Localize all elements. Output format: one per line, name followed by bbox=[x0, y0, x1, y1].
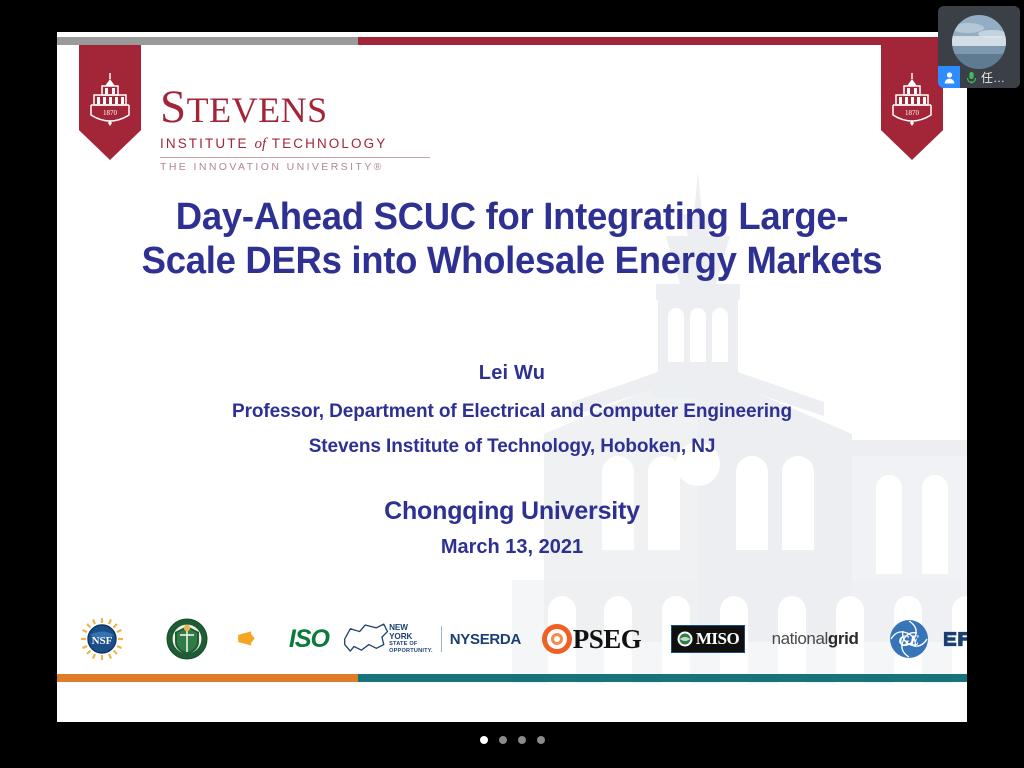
wordmark-divider bbox=[160, 157, 430, 158]
sponsor-logo-epri: ELECTRIC POWER RESEARCH INSTITUTE bbox=[943, 616, 967, 662]
stevens-wordmark: STEVENS INSTITUTE of TECHNOLOGY THE INNO… bbox=[160, 84, 430, 173]
pagination-dot-2[interactable] bbox=[499, 736, 507, 744]
sponsor-ng-text: national bbox=[772, 629, 828, 648]
shield-year-left: 1870 bbox=[103, 109, 118, 117]
participant-name-bar: 任… bbox=[938, 66, 1020, 88]
sponsor-nys-sub-a: STATE OF bbox=[389, 641, 433, 648]
slide-bottom-accent-bar bbox=[57, 674, 967, 682]
bottom-accent-orange-segment bbox=[57, 674, 358, 682]
presentation-slide[interactable]: 1870 bbox=[57, 32, 967, 722]
sponsor-logo-ge: GE bbox=[885, 616, 933, 662]
sponsor-nsf-text: NSF bbox=[92, 635, 113, 647]
person-icon[interactable] bbox=[938, 66, 960, 88]
event-date: March 13, 2021 bbox=[117, 536, 907, 559]
author-role: Professor, Department of Electrical and … bbox=[117, 401, 907, 423]
sponsor-logo-nyserda: NEW YORK STATE OF OPPORTUNITY. NYSERDA bbox=[341, 616, 521, 662]
zoom-shared-screen-view: 1870 bbox=[0, 0, 1024, 768]
sponsor-logo-miso: MISO bbox=[667, 616, 749, 662]
mute-status-button[interactable] bbox=[957, 719, 967, 722]
author-name: Lei Wu bbox=[117, 362, 907, 385]
stevens-shield-logo-left: 1870 bbox=[79, 45, 141, 160]
wordmark-institute-of-technology: INSTITUTE of TECHNOLOGY bbox=[160, 136, 430, 153]
pagination-dot-1[interactable] bbox=[480, 736, 488, 744]
sponsor-nyiso-text: ISO bbox=[289, 625, 329, 654]
slide-title: Day-Ahead SCUC for Integrating Large-Sca… bbox=[133, 195, 891, 283]
pagination-dot-3[interactable] bbox=[518, 736, 526, 744]
sponsor-pseg-text: PSEG bbox=[573, 624, 642, 655]
sponsor-logo-strip: NSF bbox=[65, 614, 965, 664]
event-block: Chongqing University March 13, 2021 bbox=[117, 497, 907, 559]
sponsor-miso-text: MISO bbox=[696, 629, 739, 649]
shield-year-right: 1870 bbox=[905, 109, 920, 117]
top-accent-gray-segment bbox=[57, 37, 358, 45]
slide-top-accent-bar bbox=[57, 37, 967, 45]
pagination-dot-4[interactable] bbox=[537, 736, 545, 744]
sponsor-logo-nyiso: ISO bbox=[237, 616, 329, 662]
microphone-icon bbox=[963, 71, 979, 84]
sponsor-nyserda-text: NYSERDA bbox=[450, 631, 521, 648]
author-block: Lei Wu Professor, Department of Electric… bbox=[117, 362, 907, 458]
slide-pagination-dots[interactable] bbox=[0, 736, 1024, 744]
stevens-shield-logo-right: 1870 bbox=[881, 45, 943, 160]
sponsor-logo-doe bbox=[149, 616, 225, 662]
sponsor-logo-nsf: NSF bbox=[65, 616, 139, 662]
sponsor-nys-sub-b: OPPORTUNITY. bbox=[389, 648, 433, 655]
sponsor-ng-text-bold: grid bbox=[828, 629, 859, 648]
sponsor-logo-nationalgrid: nationalgrid bbox=[761, 616, 869, 662]
bottom-accent-teal-segment bbox=[358, 674, 967, 682]
sponsor-logo-pseg: PSEG bbox=[527, 616, 655, 662]
event-venue: Chongqing University bbox=[117, 497, 907, 526]
author-affiliation: Stevens Institute of Technology, Hoboken… bbox=[117, 436, 907, 458]
sponsor-nys-top: NEW YORK bbox=[389, 623, 433, 641]
wordmark-tagline: THE INNOVATION UNIVERSITY® bbox=[160, 161, 430, 173]
participant-video-thumbnail[interactable]: 任… bbox=[938, 6, 1020, 88]
participant-name: 任… bbox=[981, 69, 1005, 86]
sponsor-nys-divider bbox=[441, 626, 442, 652]
top-accent-crimson-segment bbox=[358, 37, 967, 45]
sponsor-ge-text: GE bbox=[899, 633, 920, 649]
wordmark-stevens: STEVENS bbox=[160, 84, 430, 131]
